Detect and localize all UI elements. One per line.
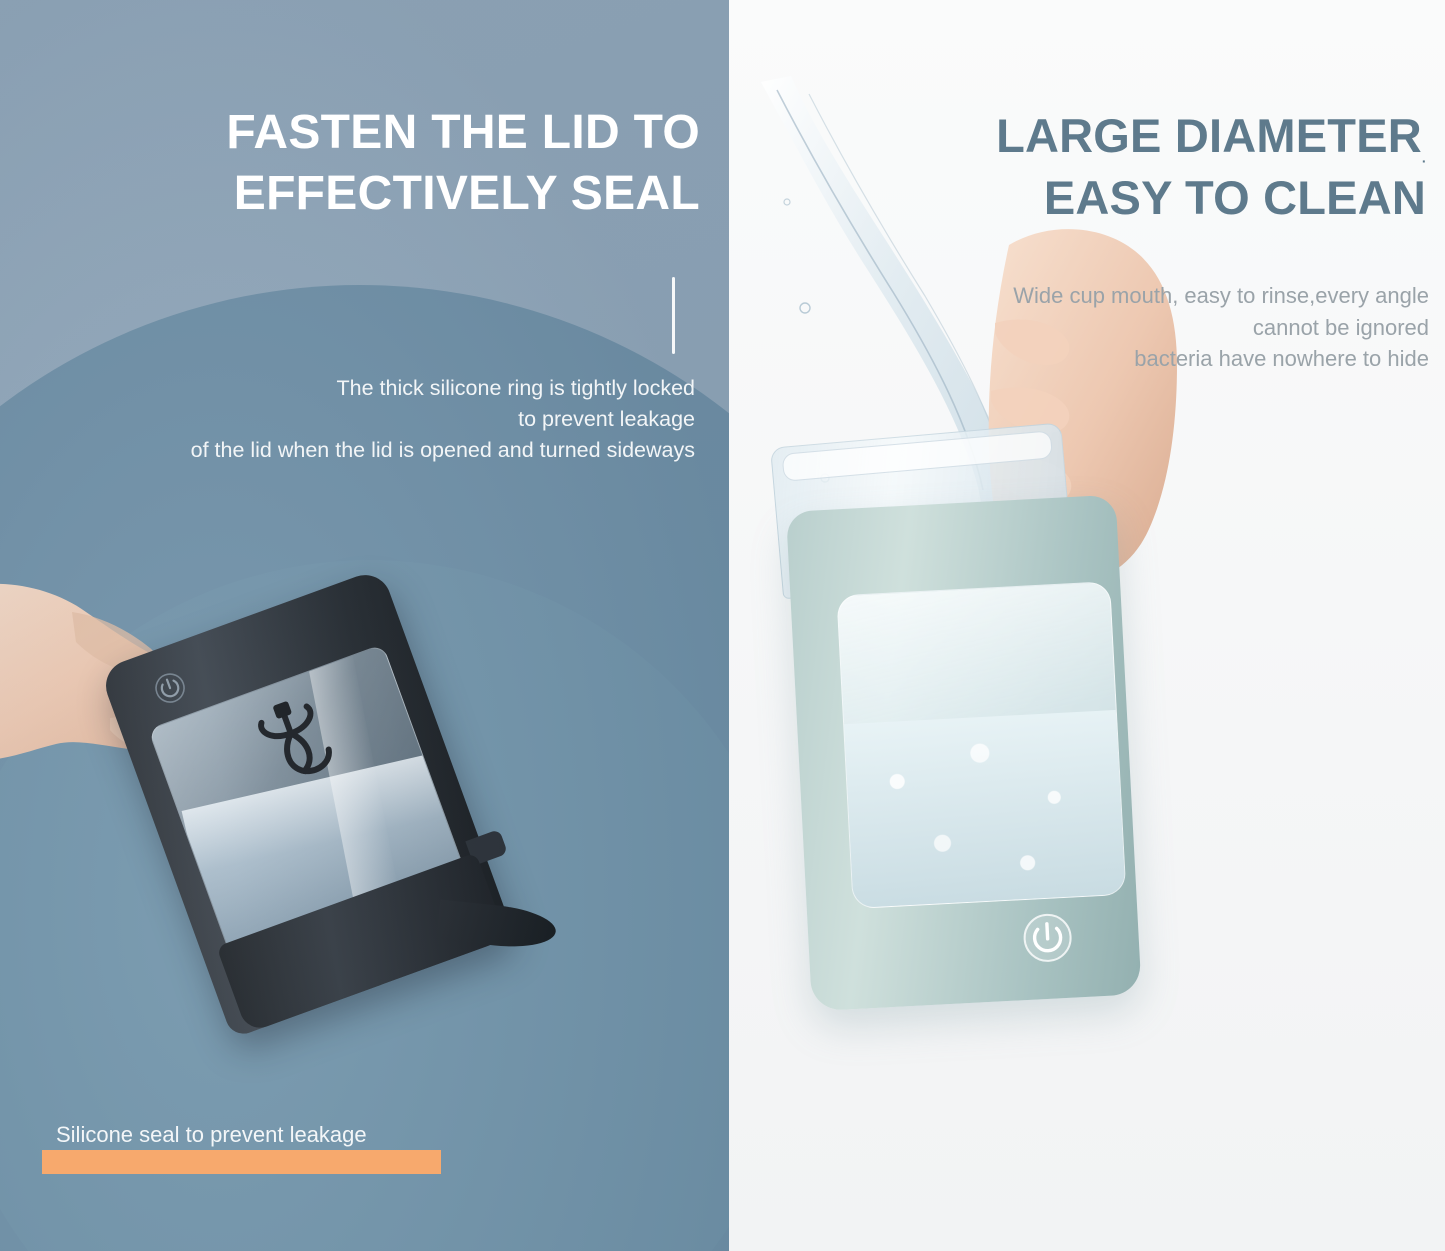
left-body-line-3: of the lid when the lid is opened and tu… — [30, 435, 695, 466]
left-feature-panel: FASTEN THE LID TO EFFECTIVELY SEAL The t… — [0, 0, 729, 1251]
power-icon — [1019, 909, 1076, 966]
water-in-cup — [836, 709, 1126, 909]
right-body-line-1: Wide cup mouth, easy to rinse,every angl… — [754, 280, 1429, 312]
caption-label: Silicone seal to prevent leakage — [56, 1122, 367, 1148]
product-blender-mint — [764, 418, 1277, 1092]
left-headline: FASTEN THE LID TO EFFECTIVELY SEAL — [60, 103, 700, 225]
left-headline-line-1: FASTEN THE LID TO — [60, 103, 700, 164]
blender-mint-body — [786, 495, 1142, 1012]
right-headline: LARGE DIAMETER. EASY TO CLEAN — [754, 105, 1426, 228]
product-feature-banner: FASTEN THE LID TO EFFECTIVELY SEAL The t… — [0, 0, 1445, 1251]
accent-rule-vertical — [672, 277, 675, 354]
caption-block: Silicone seal to prevent leakage — [42, 1122, 452, 1178]
right-body-text: Wide cup mouth, easy to rinse,every angl… — [754, 280, 1429, 375]
right-feature-panel: LARGE DIAMETER. EASY TO CLEAN Wide cup m… — [729, 0, 1445, 1251]
left-headline-line-2: EFFECTIVELY SEAL — [60, 164, 700, 225]
left-body-text: The thick silicone ring is tightly locke… — [30, 373, 695, 467]
right-headline-line-1: LARGE DIAMETER. — [754, 105, 1426, 167]
right-body-line-2: cannot be ignored — [754, 312, 1429, 344]
right-body-line-3: bacteria have nowhere to hide — [754, 343, 1429, 375]
right-headline-text-1: LARGE DIAMETER — [996, 109, 1422, 162]
right-headline-line-2: EASY TO CLEAN — [754, 167, 1426, 228]
blender-mint-cup-window — [836, 581, 1126, 909]
left-body-line-2: to prevent leakage — [30, 404, 695, 435]
headline-mark: . — [1422, 149, 1426, 165]
left-body-line-1: The thick silicone ring is tightly locke… — [30, 373, 695, 404]
caption-highlight-bar — [42, 1150, 441, 1174]
power-icon — [148, 666, 192, 710]
